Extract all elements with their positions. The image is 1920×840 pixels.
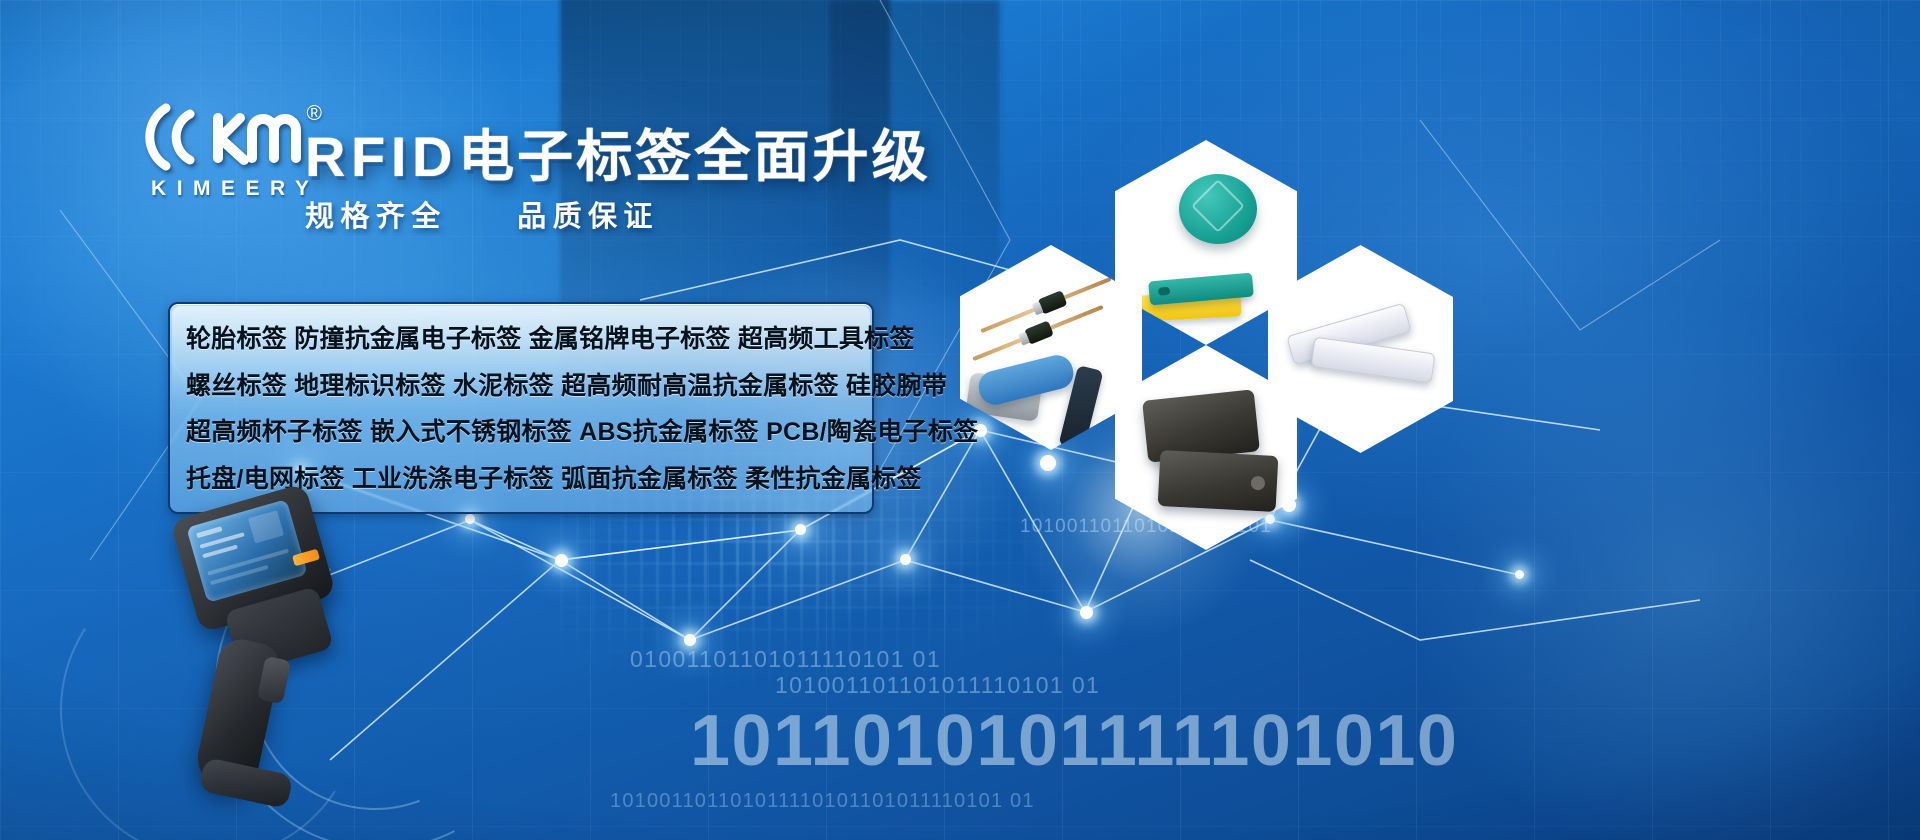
page-title: RFID电子标签全面升级 [305,112,931,193]
headline-prefix: RFID [305,125,458,188]
tag-list-row: 超高频杯子标签 嵌入式不锈钢标签 ABS抗金属标签 PCB/陶瓷电子标签 [186,419,858,445]
rfid-disc-tag-icon [1179,174,1257,244]
binary-text: 01001101101011110101 01 [630,646,941,673]
rfid-promo-banner: 1010011011010111010101 01001101101011110… [0,0,1920,840]
tag-list-row: 轮胎标签 防撞抗金属电子标签 金属铭牌电子标签 超高频工具标签 [186,326,858,352]
binary-text: 101001101101011110101 01 [775,672,1100,699]
product-hexagon-glass-tube[interactable] [960,245,1142,450]
tag-list-row: 螺丝标签 地理标识标签 水泥标签 超高频耐高温抗金属标签 硅胶腕带 [186,373,858,399]
brand-logo[interactable]: ® KIMEERY [140,100,320,210]
brand-wordmark: KIMEERY [140,177,320,201]
binary-text: 101001101101011110101101011110101 01 [610,790,1035,813]
product-hexagon-cluster [930,140,1530,560]
kimeery-wave-logo-icon: ® [140,100,320,172]
headline-text: 电子标签全面升级 [458,125,931,188]
reader-base [198,757,293,809]
rfid-handheld-reader[interactable] [165,490,375,820]
product-tag-list-panel: 轮胎标签 防撞抗金属电子标签 金属铭牌电子标签 超高频工具标签 螺丝标签 地理标… [168,302,874,514]
binary-text-large: 1011010101111101010 [690,700,1458,782]
rfid-anti-metal-tag-icon [1158,450,1279,512]
page-subtitle: 规格齐全 品质保证 [305,193,659,235]
rfid-abs-tag-icon [1311,337,1436,384]
